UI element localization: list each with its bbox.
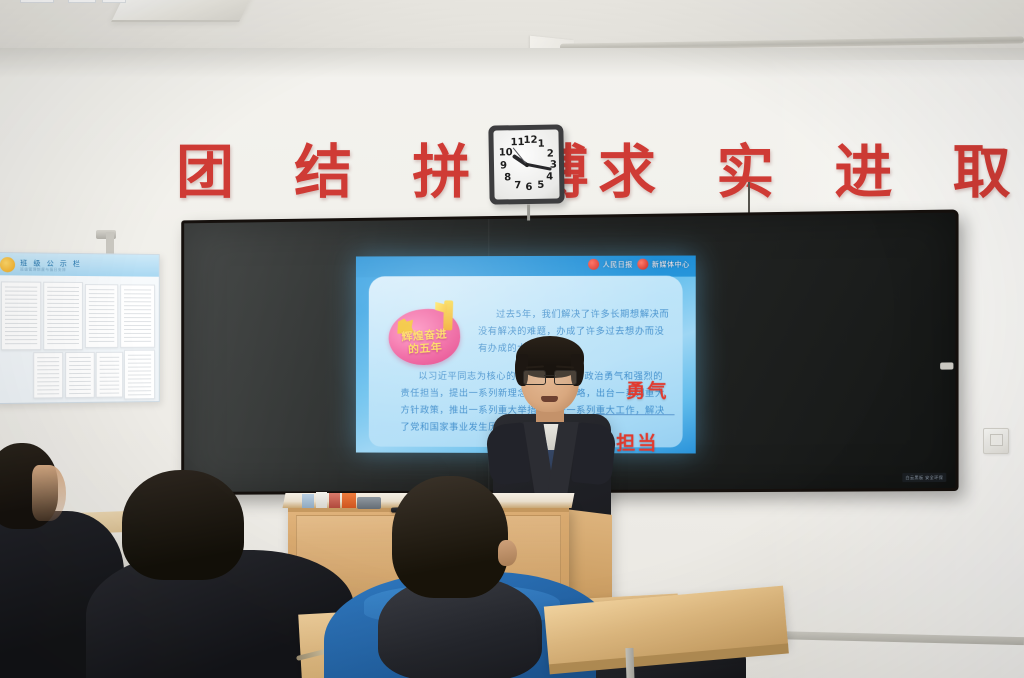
school-seal-icon xyxy=(0,257,15,272)
clock-number-8: 8 xyxy=(504,172,511,183)
student-center-head xyxy=(392,476,508,598)
blackboard-hook xyxy=(940,362,953,369)
notice-board-subtitle: 班级管理制度与值日安排 xyxy=(20,267,66,272)
flag-icon xyxy=(443,300,453,330)
notice-sheet xyxy=(85,284,118,348)
clock-number-4: 4 xyxy=(546,172,553,183)
notice-board-top-row xyxy=(6,0,156,2)
slide-top-bar: 人民日报 新媒体中心 xyxy=(356,256,696,278)
notice-sheet xyxy=(120,284,155,348)
clock-number-2: 2 xyxy=(547,149,554,160)
media-center-logo-icon xyxy=(637,259,648,270)
notice-sheet xyxy=(1,281,41,350)
wall-slogan-right: 求 实 进 取 xyxy=(598,143,1024,201)
projector-cable xyxy=(748,182,750,216)
eyeglasses-icon xyxy=(523,370,577,383)
slide-title-badge: 辉煌奋进 的五年 xyxy=(387,307,462,368)
notice-board-header: 班 级 公 示 栏 班级管理制度与值日安排 xyxy=(0,253,159,277)
notice-sheet xyxy=(43,282,83,350)
slide-logo-text: 人民日报 xyxy=(603,259,633,269)
peoples-daily-logo-icon xyxy=(588,259,599,270)
clock-number-6: 6 xyxy=(525,182,532,193)
fluorescent-ceiling-light-icon xyxy=(111,0,253,22)
clock-number-9: 9 xyxy=(500,160,507,171)
student-center-ear xyxy=(498,540,517,566)
notice-sheet xyxy=(102,0,126,3)
notice-sheet xyxy=(20,0,54,3)
slide-logo: 人民日报 新媒体中心 xyxy=(588,259,690,270)
notice-sheet xyxy=(33,352,63,398)
clock-number-12: 12 xyxy=(523,135,537,146)
clock-number-5: 5 xyxy=(537,180,544,191)
blackboard-brand-label: 白云黑板 安全环保 xyxy=(902,473,946,482)
clock-number-1: 1 xyxy=(538,139,545,150)
glasses-lens-left xyxy=(523,370,546,385)
slide-keyword-responsibility: 担当 xyxy=(616,428,658,453)
clock-number-10: 10 xyxy=(499,147,513,158)
slide-keyword-courage: 勇气 xyxy=(626,376,668,403)
notice-sheet xyxy=(68,0,96,3)
student-center-left-head xyxy=(122,470,244,580)
notice-sheet xyxy=(65,352,95,398)
clock-face: 12 1 2 3 4 5 6 7 8 9 10 11 xyxy=(493,129,559,199)
wall-light-switch[interactable] xyxy=(983,428,1009,454)
student-left-face xyxy=(32,465,66,521)
desk-leg xyxy=(625,648,634,678)
class-notice-board: 班 级 公 示 栏 班级管理制度与值日安排 xyxy=(0,252,160,404)
glasses-lens-right xyxy=(554,370,577,385)
notice-sheet xyxy=(96,352,123,398)
clock-center-pin xyxy=(524,162,528,166)
blackboard-clip xyxy=(527,205,530,221)
clock-number-7: 7 xyxy=(514,180,521,191)
slide-logo-text-2: 新媒体中心 xyxy=(652,259,690,269)
presenter-mouth xyxy=(541,396,558,402)
notice-sheet xyxy=(124,350,155,400)
wall-clock: 12 1 2 3 4 5 6 7 8 9 10 11 xyxy=(488,124,564,204)
classroom-photo-scene: 团 结 拼 搏 求 实 进 取 12 1 2 3 4 5 6 7 8 9 10 … xyxy=(0,0,1024,678)
